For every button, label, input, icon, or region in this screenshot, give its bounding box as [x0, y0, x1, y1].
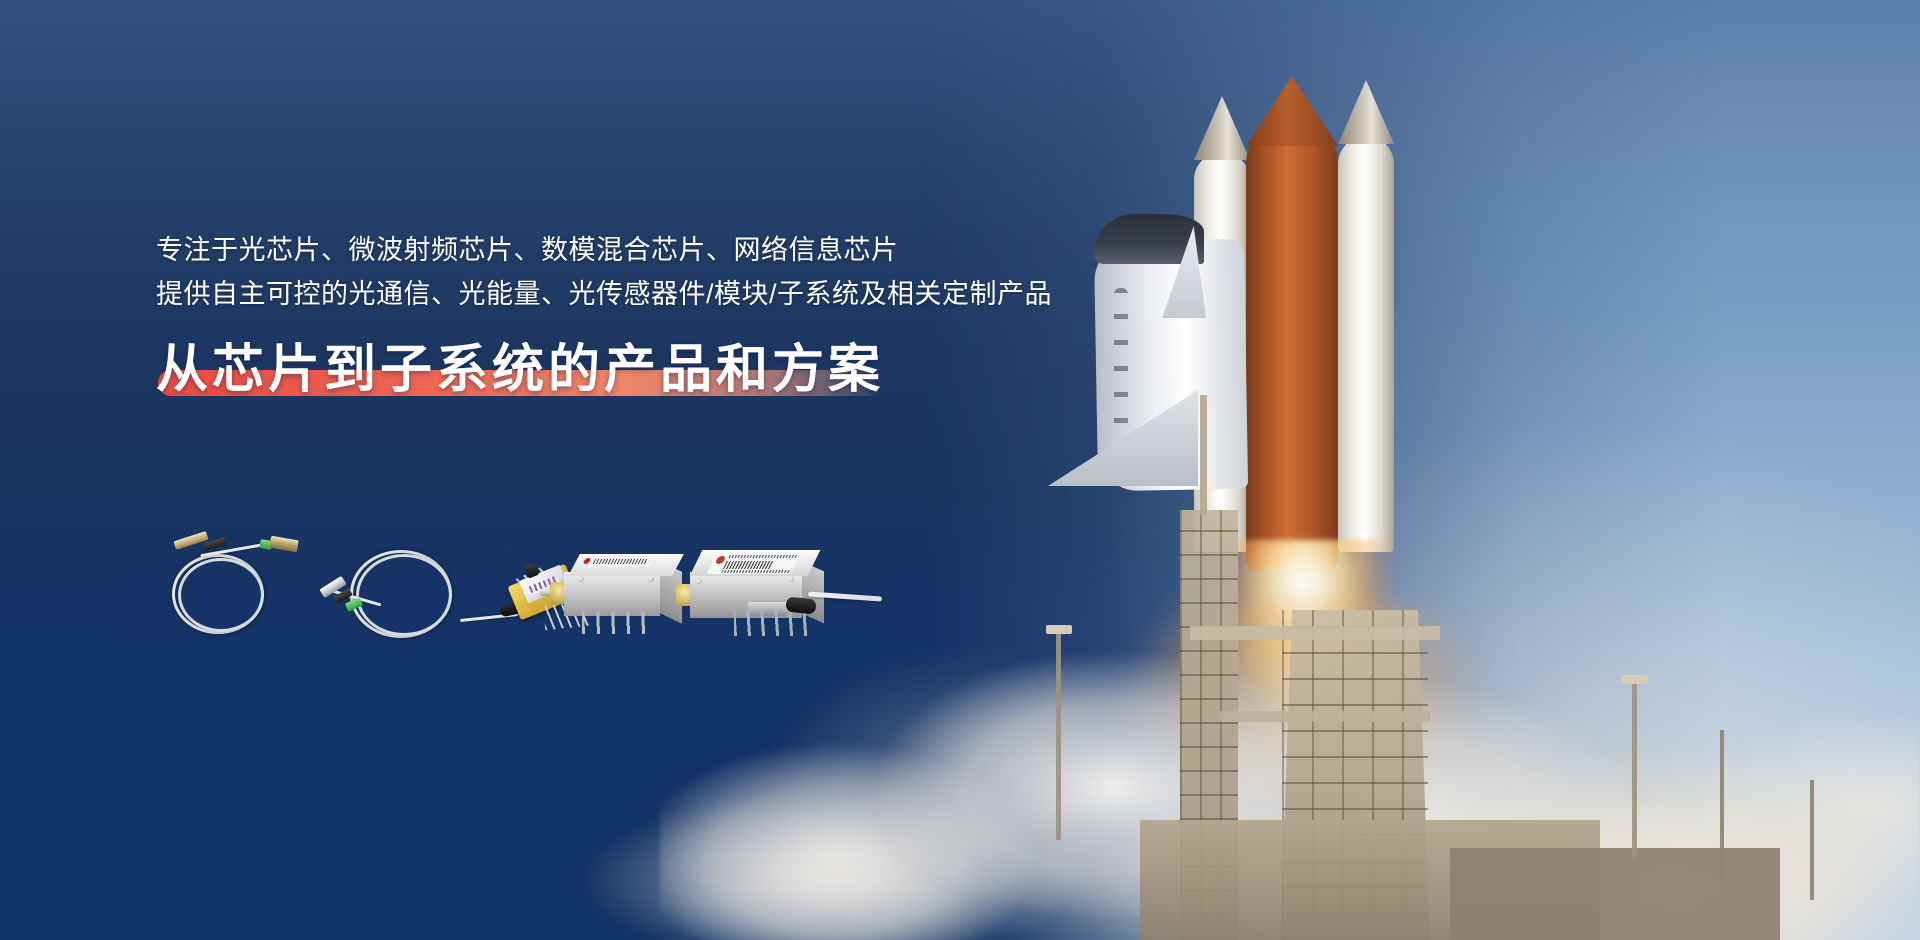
module-screw-left	[578, 576, 584, 582]
optical-module-screw-right	[788, 576, 794, 582]
pad-mast-left	[1056, 630, 1061, 840]
label-barcode	[723, 561, 775, 569]
product-fiber-patch-cord-lc	[160, 530, 310, 640]
product-optical-network-module	[690, 536, 880, 656]
banner-headline: 从芯片到子系统的产品和方案	[156, 338, 884, 402]
fc-connector-ferrule	[173, 531, 208, 550]
pad-pole-a	[1720, 730, 1724, 880]
label-line-product-name	[728, 555, 796, 558]
module-screw-right	[648, 576, 654, 582]
fc-connector-body	[269, 536, 299, 553]
access-walkway-upper	[1190, 626, 1440, 640]
label-line-serial	[721, 570, 789, 573]
banner-subtitle-line-1: 专注于光芯片、微波射频芯片、数模混合芯片、网络信息芯片	[156, 228, 1156, 272]
pad-pole-b	[1810, 780, 1814, 900]
banner-copy-block: 专注于光芯片、微波射频芯片、数模混合芯片、网络信息芯片 提供自主可控的光通信、光…	[156, 228, 1156, 402]
optical-module-product-label	[707, 552, 802, 574]
optical-module-screw-left	[696, 578, 702, 584]
pigtail-cable-loop-inner	[356, 554, 452, 636]
product-showcase-row	[160, 530, 880, 660]
optical-module-fiber-boot	[785, 596, 816, 614]
pad-mast-right	[1632, 680, 1637, 860]
fiber-cable-loop-inner	[178, 558, 264, 632]
launch-pad-structure	[1020, 470, 1920, 940]
pad-floodlight-left	[1046, 625, 1072, 634]
optical-module-pin-row	[734, 610, 812, 636]
module-pin-row	[582, 612, 652, 634]
lightning-mast	[1200, 395, 1207, 515]
banner-headline-wrapper: 从芯片到子系统的产品和方案	[156, 338, 884, 402]
access-walkway-lower	[1220, 711, 1430, 722]
banner-subtitle-line-2: 提供自主可控的光通信、光能量、光传感器件/模块/子系统及相关定制产品	[156, 272, 1156, 316]
module-serial-label	[587, 556, 655, 567]
pad-floodlight-right	[1622, 675, 1648, 684]
pad-base-platform-right	[1450, 848, 1780, 940]
hero-banner: 专注于光芯片、微波射频芯片、数模混合芯片、网络信息芯片 提供自主可控的光通信、光…	[0, 0, 1920, 940]
